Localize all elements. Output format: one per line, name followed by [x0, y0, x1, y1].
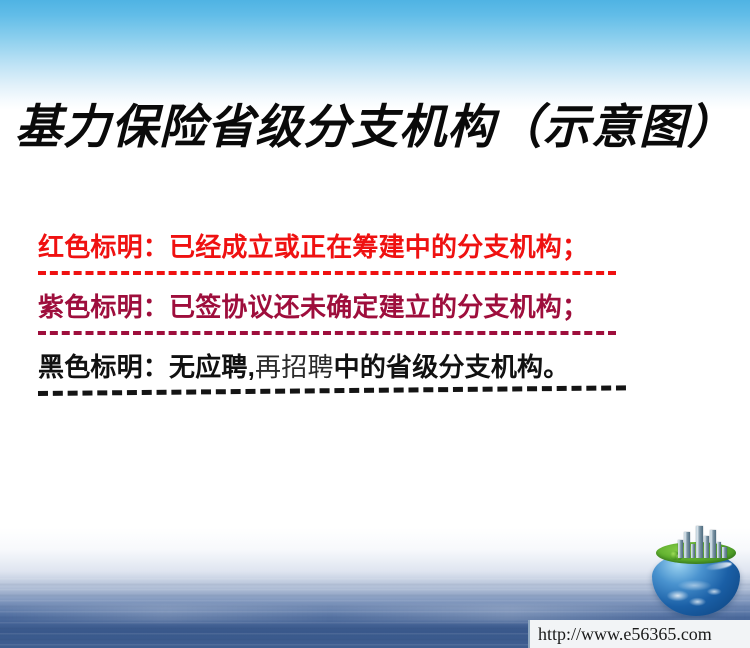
building-shape [678, 540, 683, 558]
city-skyline-icon [648, 522, 744, 564]
legend-row-red: 红色标明：已经成立或正在筹建中的分支机构； [38, 232, 698, 275]
legend-label-black: 黑色标明：无应聘,再招聘中的省级分支机构。 [38, 352, 698, 382]
legend-block: 红色标明：已经成立或正在筹建中的分支机构； 紫色标明：已签协议还未确定建立的分支… [38, 232, 698, 396]
legend-row-purple: 紫色标明：已签协议还未确定建立的分支机构； [38, 292, 698, 335]
globe-city-logo-icon [648, 522, 744, 622]
legend-divider-purple [38, 331, 616, 335]
building-shape [696, 526, 703, 558]
building-shape [704, 536, 709, 558]
watermark-bar: http://www.e56365.com [528, 620, 750, 648]
legend-divider-red [38, 271, 616, 275]
building-shape [717, 542, 721, 558]
building-shape [684, 532, 690, 558]
legend-label-black-part1: 无应聘, [169, 352, 255, 382]
building-shape [710, 530, 716, 558]
legend-label-red: 红色标明：已经成立或正在筹建中的分支机构； [38, 232, 698, 262]
sky-gradient-background [0, 0, 750, 110]
legend-label-black-prefix: 黑色标明： [38, 352, 169, 382]
legend-label-purple: 紫色标明：已签协议还未确定建立的分支机构； [38, 292, 698, 322]
globe-landmass [658, 578, 734, 612]
legend-label-black-part2: 中的省级分支机构。 [334, 352, 570, 382]
watermark-url: http://www.e56365.com [530, 624, 712, 645]
legend-label-black-light: 再招聘 [255, 352, 334, 382]
legend-divider-black [38, 385, 626, 396]
slide-title: 基力保险省级分支机构（示意图） [0, 98, 750, 159]
legend-row-black: 黑色标明：无应聘,再招聘中的省级分支机构。 [38, 352, 698, 396]
building-shape [722, 547, 727, 558]
building-shape [691, 544, 695, 558]
slide-canvas: 基力保险省级分支机构（示意图） 红色标明：已经成立或正在筹建中的分支机构； 紫色… [0, 0, 750, 648]
